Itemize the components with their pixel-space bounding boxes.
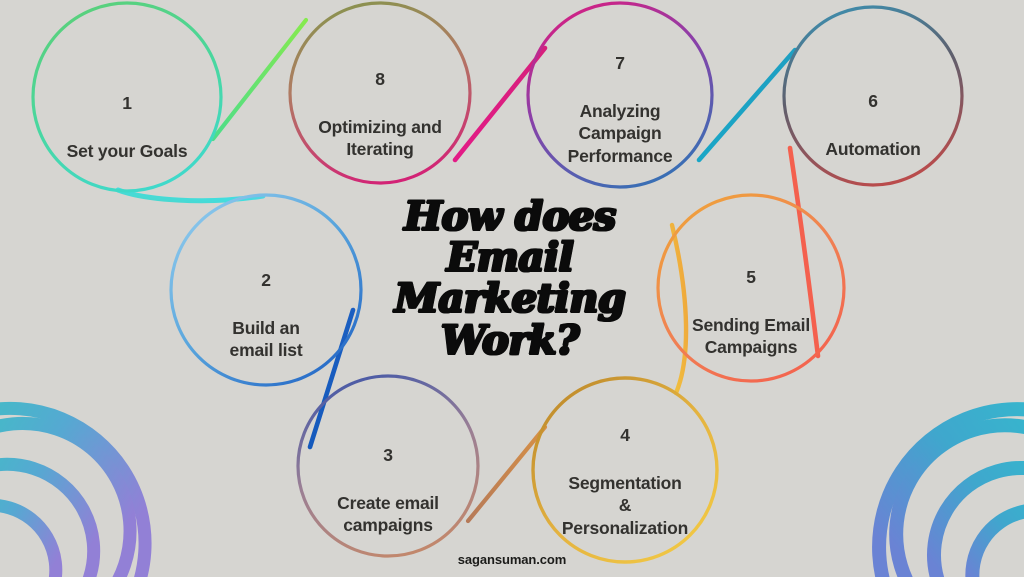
connector-2-to-3 — [310, 310, 353, 447]
watermark: sagansuman.com — [0, 552, 1024, 567]
connector-6-to-5 — [790, 148, 818, 356]
node-circle-8[interactable] — [290, 3, 470, 183]
diagram-artwork — [0, 0, 1024, 577]
connector-7-to-6 — [699, 50, 795, 160]
node-circle-1[interactable] — [33, 3, 221, 191]
node-circle-3[interactable] — [298, 376, 478, 556]
node-circle-4[interactable] — [533, 378, 717, 562]
node-circle-6[interactable] — [784, 7, 962, 185]
node-circle-2[interactable] — [171, 195, 361, 385]
connector-5-to-4 — [672, 225, 686, 393]
node-circle-5[interactable] — [658, 195, 844, 381]
infographic-canvas: 1 Set your Goals 2 Build an email list 3… — [0, 0, 1024, 577]
node-circle-7[interactable] — [528, 3, 712, 187]
